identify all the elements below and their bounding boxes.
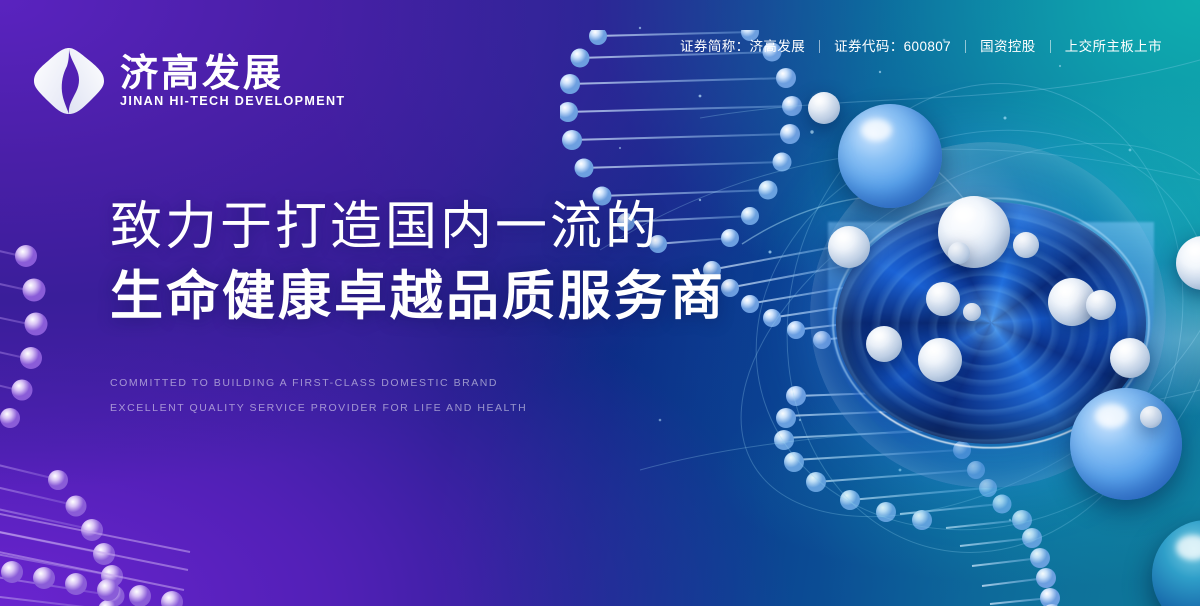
brand-name-en: JINAN HI-TECH DEVELOPMENT bbox=[120, 95, 345, 108]
sphere-white-rs bbox=[1140, 406, 1162, 428]
sphere-white-right2 bbox=[1086, 290, 1116, 320]
brand-name-cn: 济高发展 bbox=[120, 54, 345, 92]
sphere-white-left1 bbox=[828, 226, 870, 268]
stock-info-item-3: 上交所主板上市 bbox=[1051, 40, 1176, 54]
dna-helix-bottom-right-icon bbox=[760, 386, 1100, 606]
sphere-white-small2 bbox=[948, 242, 970, 264]
sphere-white-left3 bbox=[918, 338, 962, 382]
sphere-white-mid bbox=[926, 282, 960, 316]
stock-info-item-2: 国资控股 bbox=[966, 40, 1050, 54]
sphere-white-right3 bbox=[1110, 338, 1150, 378]
sphere-white-tiny bbox=[963, 303, 981, 321]
dna-helix-bottom-left-icon bbox=[0, 500, 200, 606]
stock-info-item-0: 证券简称：济高发展 bbox=[666, 40, 819, 54]
sphere-blue-top bbox=[838, 104, 942, 208]
hero-subtitle: COMMITTED TO BUILDING A FIRST-CLASS DOME… bbox=[110, 378, 726, 413]
headline-line-1: 致力于打造国内一流的 bbox=[110, 196, 726, 259]
sphere-deep-corner bbox=[1152, 520, 1200, 606]
jinan-hi-tech-leaf-mark-icon bbox=[32, 44, 106, 118]
hero-banner: 济高发展 JINAN HI-TECH DEVELOPMENT 证券简称：济高发展… bbox=[0, 0, 1200, 606]
brand-logo[interactable]: 济高发展 JINAN HI-TECH DEVELOPMENT bbox=[32, 44, 345, 118]
hero-copy: 致力于打造国内一流的 生命健康卓越品质服务商 COMMITTED TO BUIL… bbox=[110, 196, 726, 427]
sphere-blue-right bbox=[1070, 388, 1182, 500]
sphere-white-left2 bbox=[866, 326, 902, 362]
subtitle-line-1: COMMITTED TO BUILDING A FIRST-CLASS DOME… bbox=[110, 378, 726, 389]
stock-info-item-1: 证券代码：600807 bbox=[820, 40, 965, 54]
sphere-white-upper bbox=[808, 92, 840, 124]
brand-logo-text: 济高发展 JINAN HI-TECH DEVELOPMENT bbox=[120, 54, 345, 108]
headline-line-2: 生命健康卓越品质服务商 bbox=[110, 265, 726, 330]
sphere-white-edge bbox=[1176, 236, 1200, 290]
stock-info-bar: 证券简称：济高发展 证券代码：600807 国资控股 上交所主板上市 bbox=[666, 40, 1176, 54]
subtitle-line-2: EXCELLENT QUALITY SERVICE PROVIDER FOR L… bbox=[110, 403, 726, 414]
sphere-white-small1 bbox=[1013, 232, 1039, 258]
